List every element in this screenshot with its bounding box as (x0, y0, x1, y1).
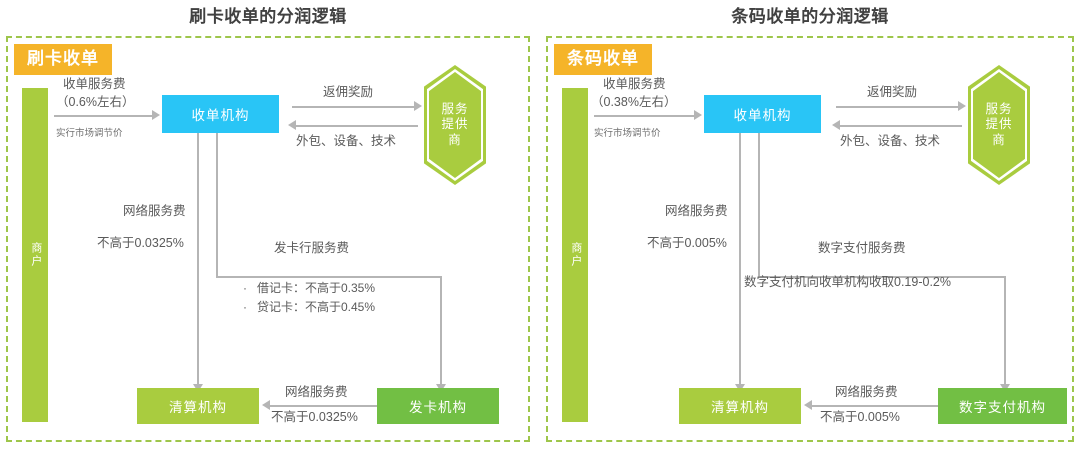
sp-line-3: 商 (448, 133, 462, 149)
node-issuer-left: 发卡机构 (377, 388, 499, 424)
label-issuer-bullets-left: ·借记卡：不高于0.35% ·贷记卡：不高于0.45% (243, 279, 375, 316)
line-merchant-to-acquirer-left (54, 115, 154, 117)
label-market-price-note-right: 实行市场调节价 (594, 128, 661, 140)
label-service-provider-left: 服务 提供 商 (424, 65, 486, 185)
arrow-digital-to-clearing-right (804, 400, 812, 410)
line-merchant-to-acquirer-right (594, 115, 696, 117)
bullet-text-credit: 贷记卡：不高于0.45% (257, 300, 375, 314)
bullet-dot-icon: · (243, 279, 257, 298)
panel-barcode-acquiring: 条码收单的分润逻辑 条码收单 商户 收单机构 收单服务费 （0.38%左右） 实… (546, 36, 1074, 442)
label-outsource-right: 外包、设备、技术 (840, 133, 940, 149)
bullet-row-debit: ·借记卡：不高于0.35% (243, 279, 375, 298)
label-acquiring-fee-line1-right: 收单服务费 (603, 76, 666, 92)
arrow-rebate-left (414, 101, 422, 111)
panel-title-left: 刷卡收单的分润逻辑 (6, 2, 530, 27)
node-clearing-right: 清算机构 (679, 388, 801, 424)
label-service-provider-right: 服务 提供 商 (968, 65, 1030, 185)
line-acquirer-down-right (758, 133, 760, 277)
label-network-fee-right: 网络服务费 (665, 203, 728, 219)
label-market-price-note-left: 实行市场调节价 (56, 128, 123, 140)
node-service-provider-left: 服务 提供 商 (424, 65, 486, 185)
bullet-row-credit: ·贷记卡：不高于0.45% (243, 298, 375, 317)
line-digital-to-clearing-right (810, 405, 938, 407)
label-rebate-right: 返佣奖励 (867, 84, 917, 100)
badge-card-acquiring: 刷卡收单 (14, 44, 112, 75)
node-digital-payment-right: 数字支付机构 (938, 388, 1067, 424)
merchant-bar-right: 商户 (562, 88, 588, 422)
line-outsource-right (838, 125, 962, 127)
merchant-bar-left: 商户 (22, 88, 48, 422)
label-digital-payment-fee-right: 数字支付服务费 (818, 240, 906, 256)
label-issuer-fee-left: 发卡行服务费 (274, 240, 349, 256)
label-rebate-left: 返佣奖励 (323, 84, 373, 100)
line-acquirer-to-clearing-right (739, 133, 741, 386)
diagram-canvas: 刷卡收单的分润逻辑 刷卡收单 商户 收单机构 收单服务费 （0.6%左右） 实行… (0, 0, 1080, 452)
arrow-merchant-to-acquirer-left (152, 110, 160, 120)
sp-line-1: 服务 (985, 102, 1012, 118)
arrow-issuer-to-clearing-left (262, 400, 270, 410)
panel-card-acquiring: 刷卡收单的分润逻辑 刷卡收单 商户 收单机构 收单服务费 （0.6%左右） 实行… (6, 36, 530, 442)
sp-line-3: 商 (992, 133, 1006, 149)
arrow-rebate-right (958, 101, 966, 111)
label-outsource-left: 外包、设备、技术 (296, 133, 396, 149)
node-clearing-left: 清算机构 (137, 388, 259, 424)
sp-line-2: 提供 (985, 117, 1012, 133)
line-acquirer-across-left (216, 276, 441, 278)
line-issuer-to-clearing-left (268, 405, 377, 407)
bullet-text-debit: 借记卡：不高于0.35% (257, 281, 375, 295)
line-to-digital-payment-right (1004, 276, 1006, 386)
label-bottom-network-fee-value-right: 不高于0.005% (820, 409, 900, 425)
label-acquiring-fee-line2-right: （0.38%左右） (591, 94, 676, 110)
label-bottom-network-fee-right: 网络服务费 (835, 384, 898, 400)
line-to-issuer-left (440, 276, 442, 386)
sp-line-2: 提供 (441, 117, 468, 133)
arrow-outsource-left (288, 120, 296, 130)
label-acquiring-fee-line2-left: （0.6%左右） (56, 94, 135, 110)
line-rebate-left (292, 106, 416, 108)
line-acquirer-down-left (216, 133, 218, 277)
label-bottom-network-fee-value-left: 不高于0.0325% (271, 409, 358, 425)
line-outsource-left (294, 125, 418, 127)
panel-title-right: 条码收单的分润逻辑 (546, 2, 1074, 27)
node-acquirer-left: 收单机构 (162, 95, 279, 133)
line-rebate-right (836, 106, 960, 108)
node-acquirer-right: 收单机构 (704, 95, 821, 133)
label-bottom-network-fee-left: 网络服务费 (285, 384, 348, 400)
label-network-fee-value-left: 不高于0.0325% (97, 235, 184, 251)
label-acquiring-fee-line1-left: 收单服务费 (63, 76, 126, 92)
arrow-outsource-right (832, 120, 840, 130)
arrow-merchant-to-acquirer-right (694, 110, 702, 120)
node-service-provider-right: 服务 提供 商 (968, 65, 1030, 185)
label-digital-payment-detail-right: 数字支付机向收单机构收取0.19-0.2% (744, 274, 951, 290)
sp-line-1: 服务 (441, 102, 468, 118)
label-network-fee-value-right: 不高于0.005% (647, 235, 727, 251)
badge-barcode-acquiring: 条码收单 (554, 44, 652, 75)
bullet-dot-icon: · (243, 298, 257, 317)
label-network-fee-left: 网络服务费 (123, 203, 186, 219)
line-acquirer-to-clearing-left (197, 133, 199, 386)
